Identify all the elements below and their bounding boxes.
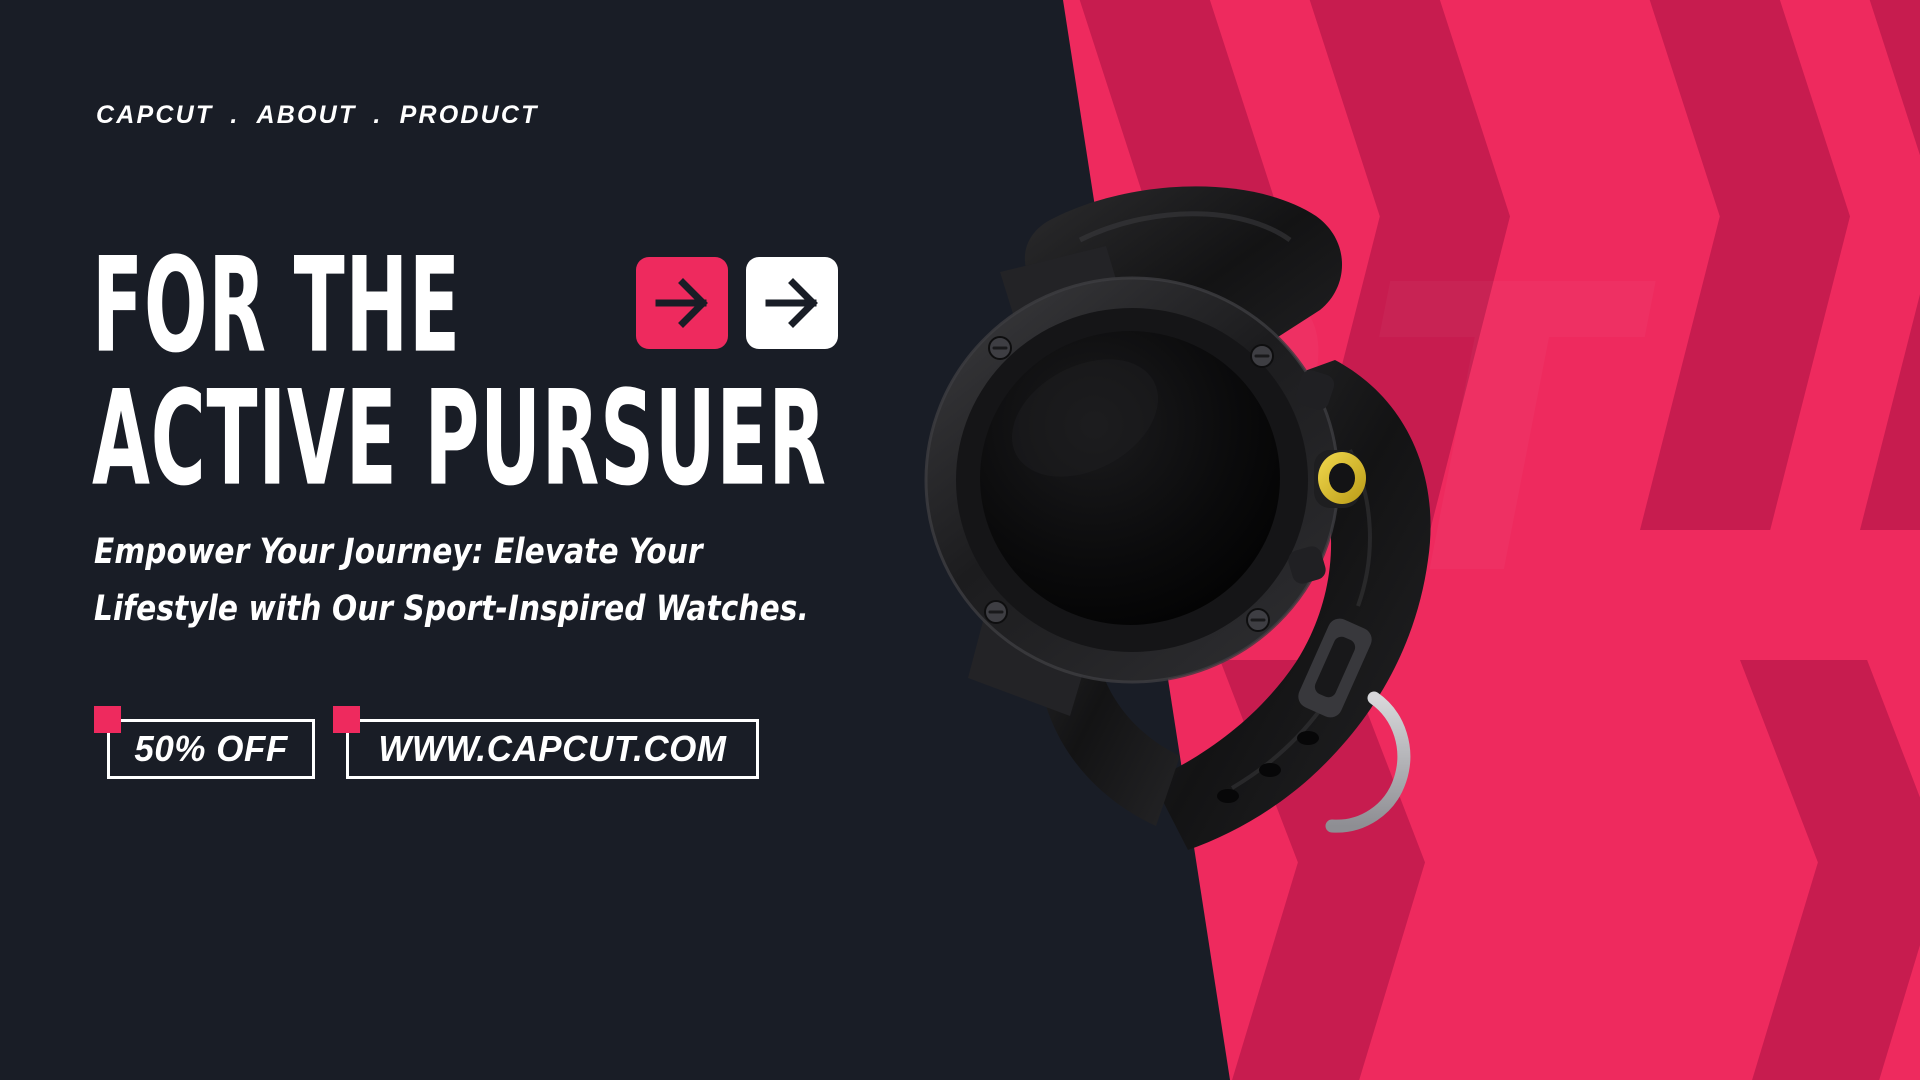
discount-badge-box[interactable]: 50% OFF: [107, 719, 315, 779]
website-badge[interactable]: WWW.CAPCUT.COM: [333, 706, 759, 779]
nav-item-capcut[interactable]: CAPCUT: [96, 101, 213, 130]
corner-square-marker: [94, 706, 121, 733]
discount-label: 50% OFF: [134, 728, 288, 770]
headline-line-1: FOR THE: [92, 246, 461, 367]
arrow-right-icon: [654, 275, 710, 331]
nav-item-product[interactable]: PRODUCT: [400, 101, 539, 130]
chevron-shape: [1640, 0, 1850, 530]
arrow-right-button-primary[interactable]: [636, 257, 728, 349]
hero-subtitle: Empower Your Journey: Elevate Your Lifes…: [94, 524, 809, 637]
arrow-right-button-secondary[interactable]: [746, 257, 838, 349]
subtitle-line-1: Empower Your Journey: Elevate Your: [94, 524, 809, 581]
subtitle-line-2: Lifestyle with Our Sport-Inspired Watche…: [94, 581, 809, 638]
corner-square-marker: [333, 706, 360, 733]
discount-badge[interactable]: 50% OFF: [94, 706, 315, 779]
nav-separator: .: [213, 101, 256, 130]
watch-crown: [1314, 450, 1366, 508]
chevron-shape: [1860, 0, 1920, 530]
banner-canvas: SPORT: [0, 0, 1920, 1080]
arrow-right-icon: [764, 275, 820, 331]
website-label: WWW.CAPCUT.COM: [379, 728, 727, 770]
top-navigation: CAPCUT . ABOUT . PRODUCT: [96, 101, 539, 130]
arrow-button-group: [636, 257, 838, 349]
nav-item-about[interactable]: ABOUT: [257, 101, 357, 130]
nav-separator: .: [356, 101, 399, 130]
headline-row-one: FOR THE: [92, 246, 1011, 349]
hero-headline: FOR THE: [92, 246, 1011, 475]
headline-line-2: ACTIVE PURSUER: [92, 379, 827, 500]
website-badge-box[interactable]: WWW.CAPCUT.COM: [346, 719, 759, 779]
cta-badge-group: 50% OFF WWW.CAPCUT.COM: [94, 706, 759, 779]
chevron-shape: [1740, 660, 1920, 1080]
